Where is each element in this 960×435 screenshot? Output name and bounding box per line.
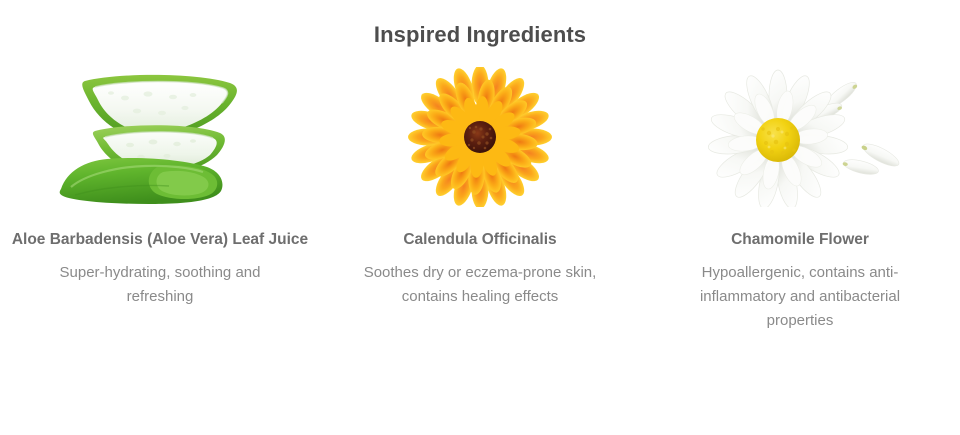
ingredient-name: Chamomile Flower — [731, 207, 869, 250]
ingredients-section: Inspired Ingredients — [0, 0, 960, 435]
chamomile-petals — [707, 70, 848, 207]
chamomile-flower-image — [685, 67, 915, 207]
calendula-center — [464, 121, 496, 153]
page-title: Inspired Ingredients — [0, 0, 960, 49]
calendula-petals — [408, 67, 552, 207]
chamomile-center — [756, 118, 800, 162]
aloe-leaf-base — [60, 158, 223, 204]
ingredient-description: Soothes dry or eczema-prone skin, contai… — [344, 250, 616, 309]
ingredient-card-calendula: Calendula Officinalis Soothes dry or ecz… — [320, 67, 640, 309]
ingredient-card-chamomile: Chamomile Flower Hypoallergenic, contain… — [640, 67, 960, 333]
ingredient-name: Aloe Barbadensis (Aloe Vera) Leaf Juice — [12, 207, 308, 250]
ingredient-name: Calendula Officinalis — [403, 207, 556, 250]
ingredients-columns: Aloe Barbadensis (Aloe Vera) Leaf Juice … — [0, 49, 960, 333]
ingredient-description: Super-hydrating, soothing and refreshing — [35, 250, 285, 309]
ingredient-card-aloe: Aloe Barbadensis (Aloe Vera) Leaf Juice … — [0, 67, 320, 309]
ingredient-description: Hypoallergenic, contains anti-inflammato… — [676, 250, 924, 333]
calendula-flower-image — [365, 67, 595, 207]
aloe-vera-slices-image — [45, 67, 275, 207]
